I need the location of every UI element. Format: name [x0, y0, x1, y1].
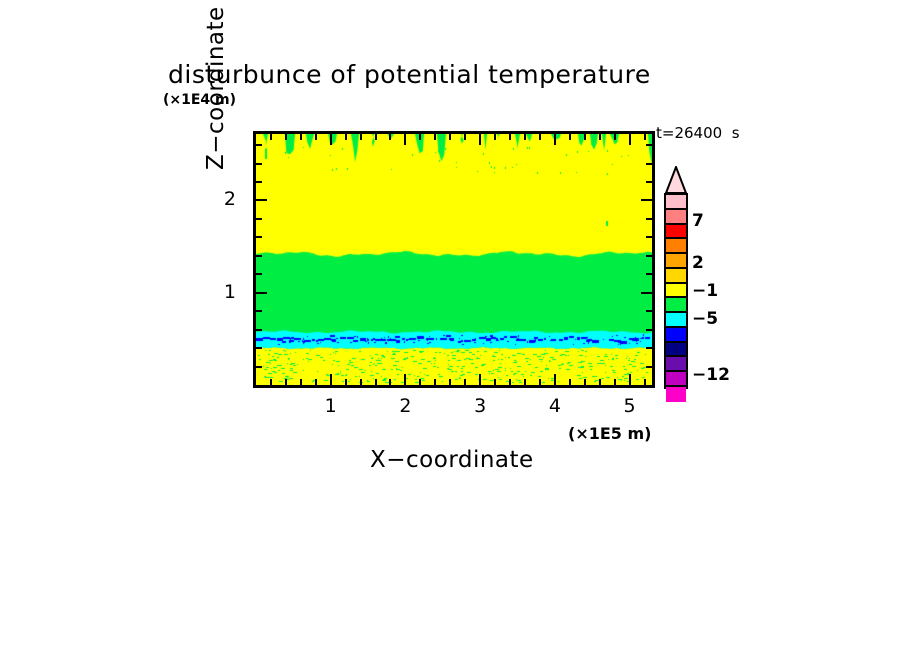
- x-axis-major-tick: [404, 134, 406, 145]
- colorbar-swatch: [666, 284, 686, 299]
- contour-plot-area: [253, 131, 655, 388]
- x-axis-minor-tick: [345, 134, 347, 140]
- y-axis-minor-tick: [256, 273, 262, 275]
- x-axis-minor-tick: [315, 379, 317, 385]
- x-axis-minor-tick: [494, 134, 496, 140]
- x-axis-tick-label: 4: [535, 395, 575, 417]
- colorbar-swatch: [666, 328, 686, 343]
- x-axis-major-tick: [554, 374, 556, 385]
- y-axis-minor-tick: [646, 163, 652, 165]
- x-axis-tick-label: 1: [311, 395, 351, 417]
- x-axis-minor-tick: [644, 379, 646, 385]
- y-axis-tick-label: 1: [196, 281, 236, 303]
- x-axis-major-tick: [629, 134, 631, 145]
- x-axis-minor-tick: [524, 134, 526, 140]
- y-axis-minor-tick: [256, 144, 262, 146]
- colorbar-swatch: [666, 239, 686, 254]
- y-axis-minor-tick: [256, 163, 262, 165]
- x-axis-minor-tick: [389, 379, 391, 385]
- x-axis-minor-tick: [345, 379, 347, 385]
- colorbar-tick-label: −12: [692, 365, 730, 385]
- x-axis-minor-tick: [539, 379, 541, 385]
- x-axis-minor-tick: [300, 379, 302, 385]
- colorbar-tick-label: −1: [692, 281, 718, 301]
- x-axis-minor-tick: [449, 379, 451, 385]
- time-annotation: t=26400 s: [656, 124, 740, 142]
- y-axis-minor-tick: [646, 366, 652, 368]
- y-axis-minor-tick: [646, 218, 652, 220]
- x-axis-minor-tick: [270, 134, 272, 140]
- x-axis-minor-tick: [389, 134, 391, 140]
- x-axis-minor-tick: [569, 134, 571, 140]
- x-axis-minor-tick: [539, 134, 541, 140]
- x-axis-minor-tick: [434, 134, 436, 140]
- y-axis-major-tick: [641, 199, 652, 201]
- colorbar-arrow-tip: [664, 166, 688, 194]
- colorbar-tick-label: −5: [692, 309, 718, 329]
- colorbar-swatch: [666, 225, 686, 240]
- colorbar-swatch: [666, 313, 686, 328]
- x-axis-major-tick: [330, 374, 332, 385]
- y-axis-minor-tick: [646, 181, 652, 183]
- x-axis-minor-tick: [360, 379, 362, 385]
- y-axis-minor-tick: [256, 310, 262, 312]
- x-axis-minor-tick: [599, 134, 601, 140]
- y-axis-major-tick: [641, 292, 652, 294]
- y-axis-minor-tick: [256, 218, 262, 220]
- x-axis-title: X−coordinate: [370, 447, 534, 473]
- y-axis-minor-tick: [646, 255, 652, 257]
- page-title: disturbunce of potential temperature: [168, 60, 651, 89]
- y-axis-minor-tick: [256, 255, 262, 257]
- x-axis-minor-tick: [375, 134, 377, 140]
- colorbar-swatch: [666, 387, 686, 402]
- contour-field-canvas: [256, 134, 652, 385]
- x-axis-minor-tick: [464, 134, 466, 140]
- x-axis-minor-tick: [360, 134, 362, 140]
- x-axis-minor-tick: [285, 134, 287, 140]
- x-axis-minor-tick: [419, 379, 421, 385]
- y-axis-major-tick: [256, 199, 267, 201]
- x-axis-minor-tick: [584, 134, 586, 140]
- colorbar-swatch: [666, 210, 686, 225]
- y-axis-minor-tick: [646, 347, 652, 349]
- x-axis-minor-tick: [569, 379, 571, 385]
- x-axis-minor-tick: [419, 134, 421, 140]
- x-axis-minor-tick: [375, 379, 377, 385]
- x-axis-major-tick: [404, 374, 406, 385]
- y-axis-minor-tick: [646, 273, 652, 275]
- x-axis-major-tick: [330, 134, 332, 145]
- x-axis-tick-label: 3: [460, 395, 500, 417]
- x-axis-minor-tick: [300, 134, 302, 140]
- colorbar-tick-label: 2: [692, 253, 704, 273]
- y-axis-minor-tick: [256, 347, 262, 349]
- colorbar-swatch: [666, 254, 686, 269]
- colorbar-swatch: [666, 343, 686, 358]
- y-axis-tick-label: 2: [196, 188, 236, 210]
- x-axis-unit-label: (×1E5 m): [568, 424, 651, 443]
- x-axis-minor-tick: [524, 379, 526, 385]
- x-axis-minor-tick: [285, 379, 287, 385]
- colorbar-swatch: [666, 298, 686, 313]
- x-axis-major-tick: [479, 134, 481, 145]
- y-axis-minor-tick: [256, 181, 262, 183]
- y-axis-minor-tick: [256, 329, 262, 331]
- y-axis-title: Z−coordinate: [203, 6, 229, 170]
- y-axis-minor-tick: [256, 366, 262, 368]
- x-axis-tick-label: 2: [385, 395, 425, 417]
- y-axis-minor-tick: [646, 236, 652, 238]
- y-axis-minor-tick: [646, 310, 652, 312]
- x-axis-major-tick: [554, 134, 556, 145]
- colorbar-swatch: [666, 195, 686, 210]
- y-axis-minor-tick: [646, 329, 652, 331]
- colorbar-swatch: [666, 269, 686, 284]
- x-axis-major-tick: [479, 374, 481, 385]
- x-axis-minor-tick: [509, 379, 511, 385]
- x-axis-minor-tick: [614, 134, 616, 140]
- y-axis-major-tick: [256, 292, 267, 294]
- y-axis-minor-tick: [256, 236, 262, 238]
- x-axis-minor-tick: [449, 134, 451, 140]
- colorbar-swatch: [666, 372, 686, 387]
- x-axis-minor-tick: [270, 379, 272, 385]
- colorbar-swatch: [666, 357, 686, 372]
- x-axis-major-tick: [629, 374, 631, 385]
- x-axis-minor-tick: [464, 379, 466, 385]
- x-axis-minor-tick: [494, 379, 496, 385]
- x-axis-minor-tick: [644, 134, 646, 140]
- x-axis-minor-tick: [614, 379, 616, 385]
- colorbar-tick-label: 7: [692, 211, 704, 231]
- x-axis-minor-tick: [315, 134, 317, 140]
- x-axis-minor-tick: [584, 379, 586, 385]
- x-axis-minor-tick: [509, 134, 511, 140]
- x-axis-minor-tick: [599, 379, 601, 385]
- y-axis-minor-tick: [646, 144, 652, 146]
- x-axis-minor-tick: [434, 379, 436, 385]
- x-axis-tick-label: 5: [610, 395, 650, 417]
- colorbar: [664, 193, 688, 389]
